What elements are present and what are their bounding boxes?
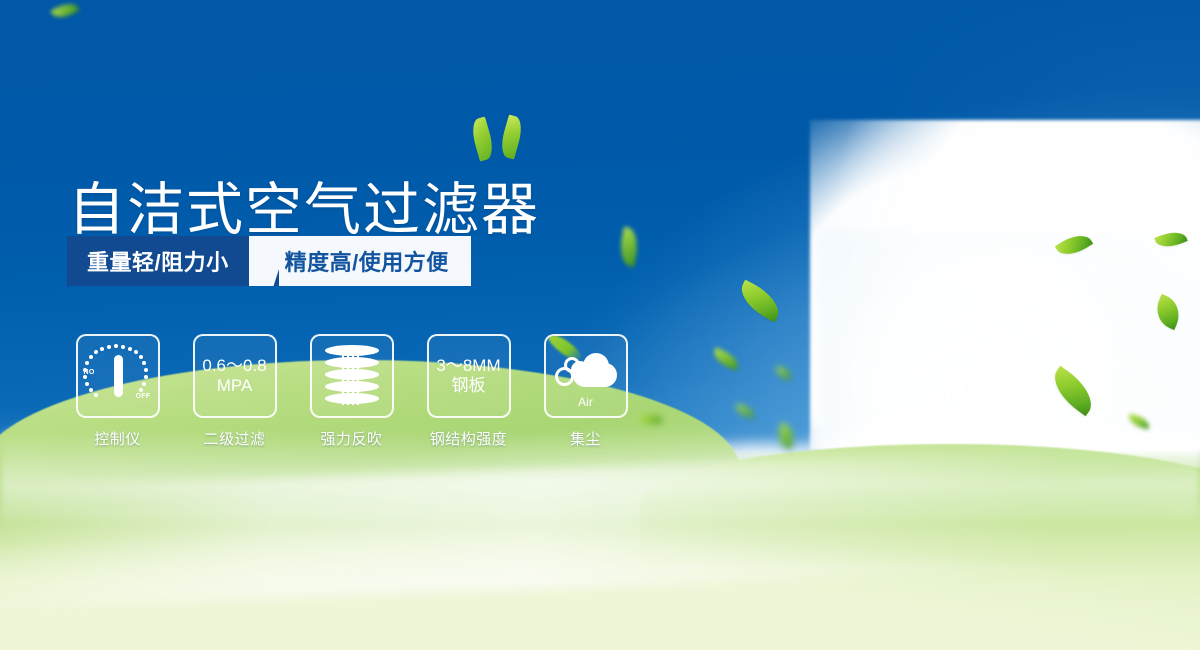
- steel-plate-icon: 3～8MM 钢板: [436, 356, 500, 396]
- air-cloud-icon: Air: [553, 347, 619, 405]
- feature-caption: 钢结构强度: [430, 428, 508, 449]
- feature-caption: 控制仪: [94, 428, 141, 449]
- gauge-icon: NO OFF: [83, 341, 153, 411]
- subtitle-left: 重量轻/阻力小: [67, 236, 249, 286]
- feature-list: NO OFF 控制仪 0.6～0.8 MPA 二级过滤: [70, 334, 633, 449]
- steel-thickness: 3～8MM: [436, 356, 500, 376]
- feature-icon-box: Air: [544, 334, 628, 418]
- product-hero-banner: 自洁式空气过滤器 重量轻/阻力小 精度高/使用方便: [0, 0, 1200, 650]
- feature-caption: 集尘: [570, 428, 601, 449]
- pressure-icon: 0.6～0.8 MPA: [202, 356, 266, 396]
- air-label: Air: [553, 395, 619, 409]
- feature-icon-box: 0.6～0.8 MPA: [193, 334, 277, 418]
- page-title: 自洁式空气过滤器: [68, 182, 540, 239]
- subtitle-right: 精度高/使用方便: [279, 236, 471, 286]
- pressure-value: 0.6～0.8: [202, 356, 266, 376]
- dust-particle-icon: [564, 357, 580, 373]
- feature-item-steel[interactable]: 3～8MM 钢板 钢结构强度: [421, 334, 516, 449]
- gauge-needle: [114, 355, 123, 397]
- gauge-label-off: OFF: [136, 393, 151, 400]
- feature-icon-box: 3～8MM 钢板: [427, 334, 511, 418]
- feature-caption: 二级过滤: [203, 428, 265, 449]
- pressure-unit: MPA: [202, 376, 266, 396]
- feature-caption: 强力反吹: [320, 428, 382, 449]
- subtitle-badge-bar: 重量轻/阻力小 精度高/使用方便: [67, 236, 471, 286]
- filter-stack-icon: [325, 345, 379, 407]
- steel-material: 钢板: [436, 376, 500, 396]
- sprout-leaves-icon: [470, 112, 530, 164]
- feature-icon-box: [310, 334, 394, 418]
- gauge-label-no: NO: [84, 369, 95, 376]
- feature-item-dust[interactable]: Air 集尘: [538, 334, 633, 449]
- feature-item-pressure[interactable]: 0.6～0.8 MPA 二级过滤: [187, 334, 282, 449]
- feature-item-backblow[interactable]: 强力反吹: [304, 334, 399, 449]
- feature-item-control[interactable]: NO OFF 控制仪: [70, 334, 165, 449]
- subtitle-divider: [249, 236, 279, 286]
- feature-icon-box: NO OFF: [76, 334, 160, 418]
